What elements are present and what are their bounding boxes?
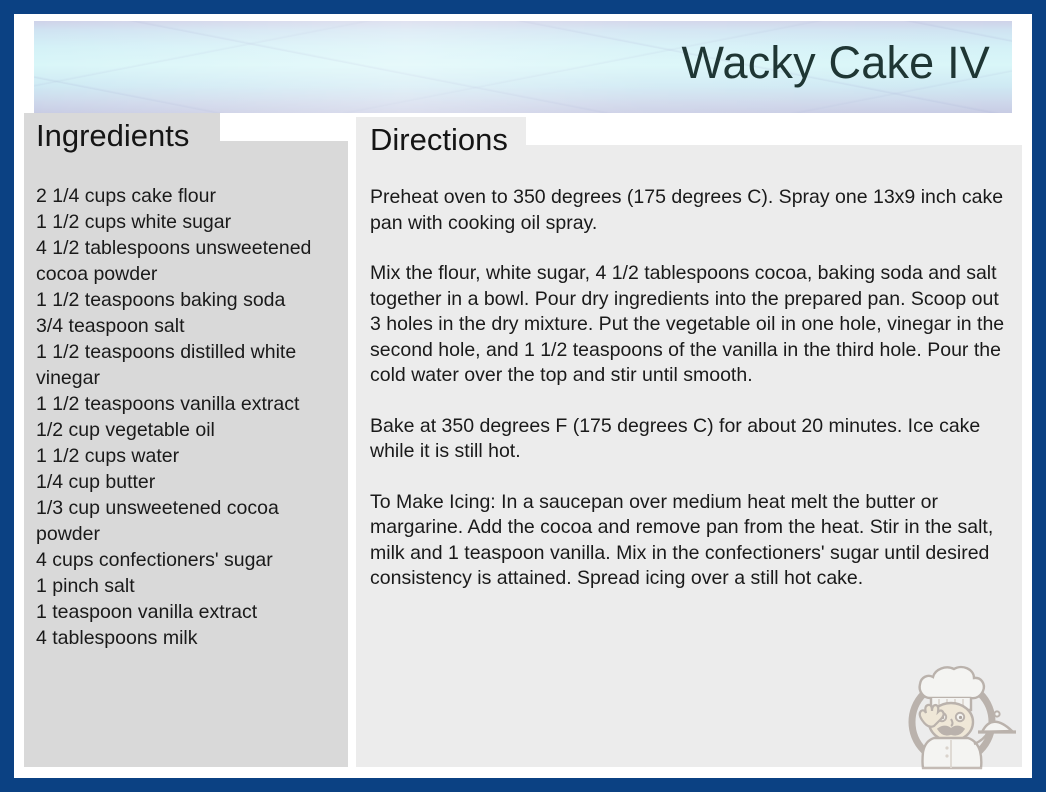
direction-paragraph: Bake at 350 degrees F (175 degrees C) fo… bbox=[370, 414, 1006, 465]
recipe-content: 2 1/4 cups cake flour 1 1/2 cups white s… bbox=[14, 113, 1032, 778]
ingredient-item: 2 1/4 cups cake flour bbox=[36, 183, 346, 209]
page-title: Wacky Cake IV bbox=[681, 37, 990, 89]
ingredient-item: 1 1/2 cups water bbox=[36, 443, 346, 469]
ingredient-item: 4 cups confectioners' sugar bbox=[36, 547, 346, 573]
chef-mascot-logo bbox=[890, 652, 1018, 772]
ingredient-item: 4 1/2 tablespoons unsweetened cocoa powd… bbox=[36, 235, 346, 287]
directions-list: Preheat oven to 350 degrees (175 degrees… bbox=[370, 185, 1006, 592]
ingredient-item: 1 1/2 teaspoons baking soda bbox=[36, 287, 346, 313]
header-banner: Wacky Cake IV bbox=[34, 21, 1012, 113]
ingredient-item: 1 1/2 teaspoons vanilla extract bbox=[36, 391, 346, 417]
ingredient-item: 1 1/2 teaspoons distilled white vinegar bbox=[36, 339, 346, 391]
ingredients-heading: Ingredients bbox=[36, 120, 189, 151]
ingredients-list: 2 1/4 cups cake flour 1 1/2 cups white s… bbox=[36, 183, 346, 651]
recipe-page: Wacky Cake IV 2 1/4 cups cake flour 1 1/… bbox=[14, 14, 1032, 778]
directions-tab: Directions bbox=[356, 117, 526, 161]
ingredient-item: 1 teaspoon vanilla extract bbox=[36, 599, 346, 625]
direction-paragraph: To Make Icing: In a saucepan over medium… bbox=[370, 490, 1006, 592]
ingredient-item: 1 pinch salt bbox=[36, 573, 346, 599]
panel-gutter bbox=[348, 113, 356, 778]
ingredient-item: 4 tablespoons milk bbox=[36, 625, 346, 651]
ingredient-item: 1/4 cup butter bbox=[36, 469, 346, 495]
ingredient-item: 1 1/2 cups white sugar bbox=[36, 209, 346, 235]
direction-paragraph: Preheat oven to 350 degrees (175 degrees… bbox=[370, 185, 1006, 236]
ingredient-item: 1/3 cup unsweetened cocoa powder bbox=[36, 495, 346, 547]
ingredients-body: 2 1/4 cups cake flour 1 1/2 cups white s… bbox=[24, 141, 358, 767]
ingredient-item: 1/2 cup vegetable oil bbox=[36, 417, 346, 443]
direction-paragraph: Mix the flour, white sugar, 4 1/2 tables… bbox=[370, 261, 1006, 389]
ingredients-tab: Ingredients bbox=[24, 113, 220, 157]
directions-heading: Directions bbox=[370, 124, 508, 155]
ingredient-item: 3/4 teaspoon salt bbox=[36, 313, 346, 339]
